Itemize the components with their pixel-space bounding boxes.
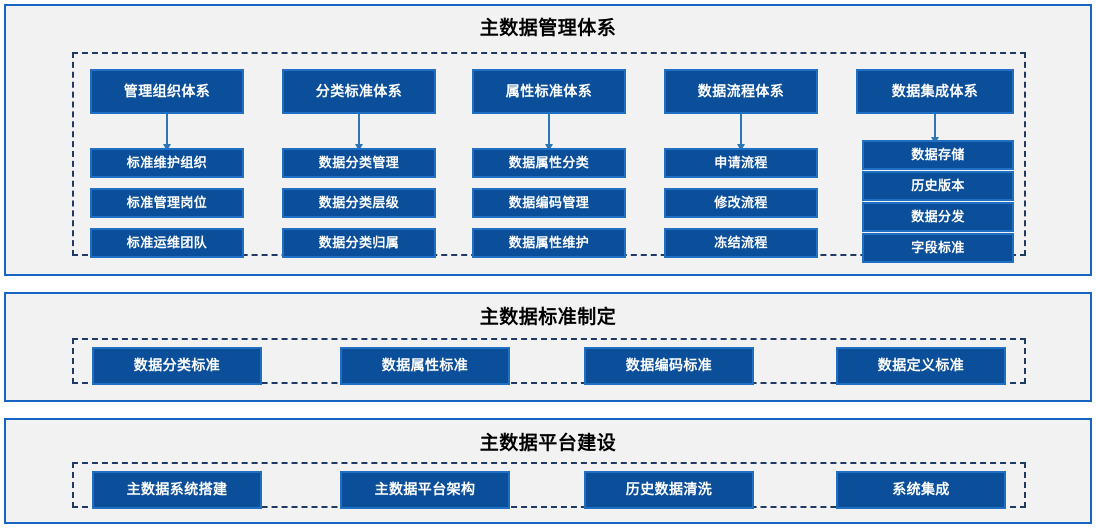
- connector-col5: [934, 114, 936, 138]
- box-platform-item-3[interactable]: 历史数据清洗: [584, 471, 754, 509]
- panel-title-standard: 主数据标准制定: [6, 294, 1090, 329]
- box-col5-sub-2[interactable]: 历史版本: [862, 171, 1014, 201]
- box-standard-item-4[interactable]: 数据定义标准: [836, 347, 1006, 385]
- diagram-canvas: 主数据管理体系 管理组织体系 标准维护组织 标准管理岗位 标准运维团队 分类标准…: [0, 0, 1096, 528]
- panel-master-data-management-system: 主数据管理体系 管理组织体系 标准维护组织 标准管理岗位 标准运维团队 分类标准…: [4, 4, 1092, 276]
- box-col1-head[interactable]: 管理组织体系: [90, 69, 244, 114]
- box-col1-sub-3[interactable]: 标准运维团队: [90, 228, 244, 258]
- box-col1-sub-2[interactable]: 标准管理岗位: [90, 188, 244, 218]
- box-col3-head[interactable]: 属性标准体系: [472, 69, 626, 114]
- box-col3-sub-2[interactable]: 数据编码管理: [472, 188, 626, 218]
- connector-col4: [740, 114, 742, 145]
- box-standard-item-2[interactable]: 数据属性标准: [340, 347, 510, 385]
- box-col5-sub-3[interactable]: 数据分发: [862, 202, 1014, 232]
- box-platform-item-2[interactable]: 主数据平台架构: [340, 471, 510, 509]
- box-col2-head[interactable]: 分类标准体系: [282, 69, 436, 114]
- box-standard-item-1[interactable]: 数据分类标准: [92, 347, 262, 385]
- box-col2-sub-2[interactable]: 数据分类层级: [282, 188, 436, 218]
- box-col2-sub-1[interactable]: 数据分类管理: [282, 148, 436, 178]
- box-col3-sub-3[interactable]: 数据属性维护: [472, 228, 626, 258]
- box-col3-sub-1[interactable]: 数据属性分类: [472, 148, 626, 178]
- box-col4-sub-3[interactable]: 冻结流程: [664, 228, 818, 258]
- box-col4-sub-1[interactable]: 申请流程: [664, 148, 818, 178]
- box-col5-head[interactable]: 数据集成体系: [856, 69, 1014, 114]
- connector-col2: [358, 114, 360, 145]
- panel-master-data-standard-definition: 主数据标准制定 数据分类标准 数据属性标准 数据编码标准 数据定义标准: [4, 292, 1092, 402]
- panel-title-system: 主数据管理体系: [6, 6, 1090, 40]
- box-col5-sub-4[interactable]: 字段标准: [862, 233, 1014, 263]
- box-standard-item-3[interactable]: 数据编码标准: [584, 347, 754, 385]
- panel-master-data-platform-construction: 主数据平台建设 主数据系统搭建 主数据平台架构 历史数据清洗 系统集成: [4, 418, 1092, 524]
- connector-col1: [166, 114, 168, 145]
- box-col5-sub-1[interactable]: 数据存储: [862, 140, 1014, 170]
- connector-col3: [548, 114, 550, 145]
- box-platform-item-4[interactable]: 系统集成: [836, 471, 1006, 509]
- box-col2-sub-3[interactable]: 数据分类归属: [282, 228, 436, 258]
- box-col4-sub-2[interactable]: 修改流程: [664, 188, 818, 218]
- box-col4-head[interactable]: 数据流程体系: [664, 69, 818, 114]
- box-platform-item-1[interactable]: 主数据系统搭建: [92, 471, 262, 509]
- box-col1-sub-1[interactable]: 标准维护组织: [90, 148, 244, 178]
- panel-title-platform: 主数据平台建设: [6, 420, 1090, 455]
